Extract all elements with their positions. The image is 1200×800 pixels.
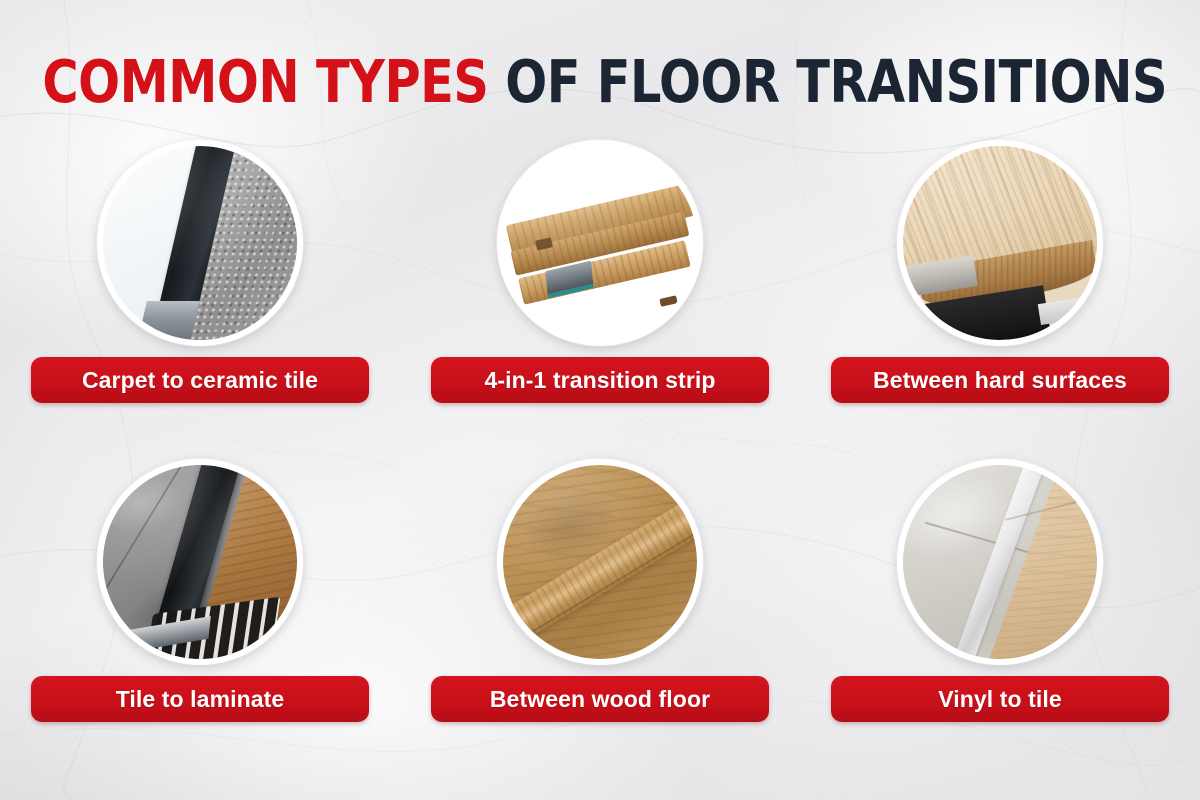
title-rest: OF FLOOR TRANSITIONS [489, 47, 1168, 116]
transition-card-carpet-to-ceramic-tile[interactable]: Carpet to ceramic tile [0, 140, 400, 403]
label-text: Between hard surfaces [873, 367, 1127, 394]
transition-card-4-in-1-transition-strip[interactable]: 4-in-1 transition strip [400, 140, 800, 403]
label-text: Tile to laminate [116, 686, 285, 713]
vinyl-to-tile-photo [903, 465, 1097, 659]
label-badge: Vinyl to tile [831, 676, 1169, 722]
transition-card-between-wood-floor[interactable]: Between wood floor [400, 459, 800, 722]
label-badge: Between wood floor [431, 676, 769, 722]
page-title: COMMON TYPES OF FLOOR TRANSITIONS [0, 52, 1200, 111]
circle-frame [897, 140, 1103, 346]
between-wood-floor-photo [503, 465, 697, 659]
circle-frame [897, 459, 1103, 665]
circle-frame [97, 140, 303, 346]
circle-frame [97, 459, 303, 665]
label-badge: Carpet to ceramic tile [31, 357, 369, 403]
circle-frame [497, 140, 703, 346]
four-in-one-transition-strip-photo [503, 146, 697, 340]
label-badge: 4-in-1 transition strip [431, 357, 769, 403]
label-text: 4-in-1 transition strip [484, 367, 715, 394]
transition-card-vinyl-to-tile[interactable]: Vinyl to tile [800, 459, 1200, 722]
transition-card-tile-to-laminate[interactable]: Tile to laminate [0, 459, 400, 722]
white-tile-edge [1038, 294, 1097, 325]
label-text: Carpet to ceramic tile [82, 367, 318, 394]
transition-card-between-hard-surfaces[interactable]: Between hard surfaces [800, 140, 1200, 403]
tile-to-laminate-photo [103, 465, 297, 659]
title-highlight: COMMON TYPES [42, 47, 488, 116]
circle-frame [497, 459, 703, 665]
label-badge: Tile to laminate [31, 676, 369, 722]
strip-notch-right [660, 295, 679, 306]
infographic-poster: COMMON TYPES OF FLOOR TRANSITIONS Carpet… [0, 0, 1200, 800]
label-text: Vinyl to tile [938, 686, 1062, 713]
transition-types-grid: Carpet to ceramic tile 4-in-1 transition… [0, 140, 1200, 722]
label-text: Between wood floor [490, 686, 710, 713]
label-badge: Between hard surfaces [831, 357, 1169, 403]
between-hard-surfaces-photo [903, 146, 1097, 340]
carpet-to-ceramic-tile-photo [103, 146, 297, 340]
